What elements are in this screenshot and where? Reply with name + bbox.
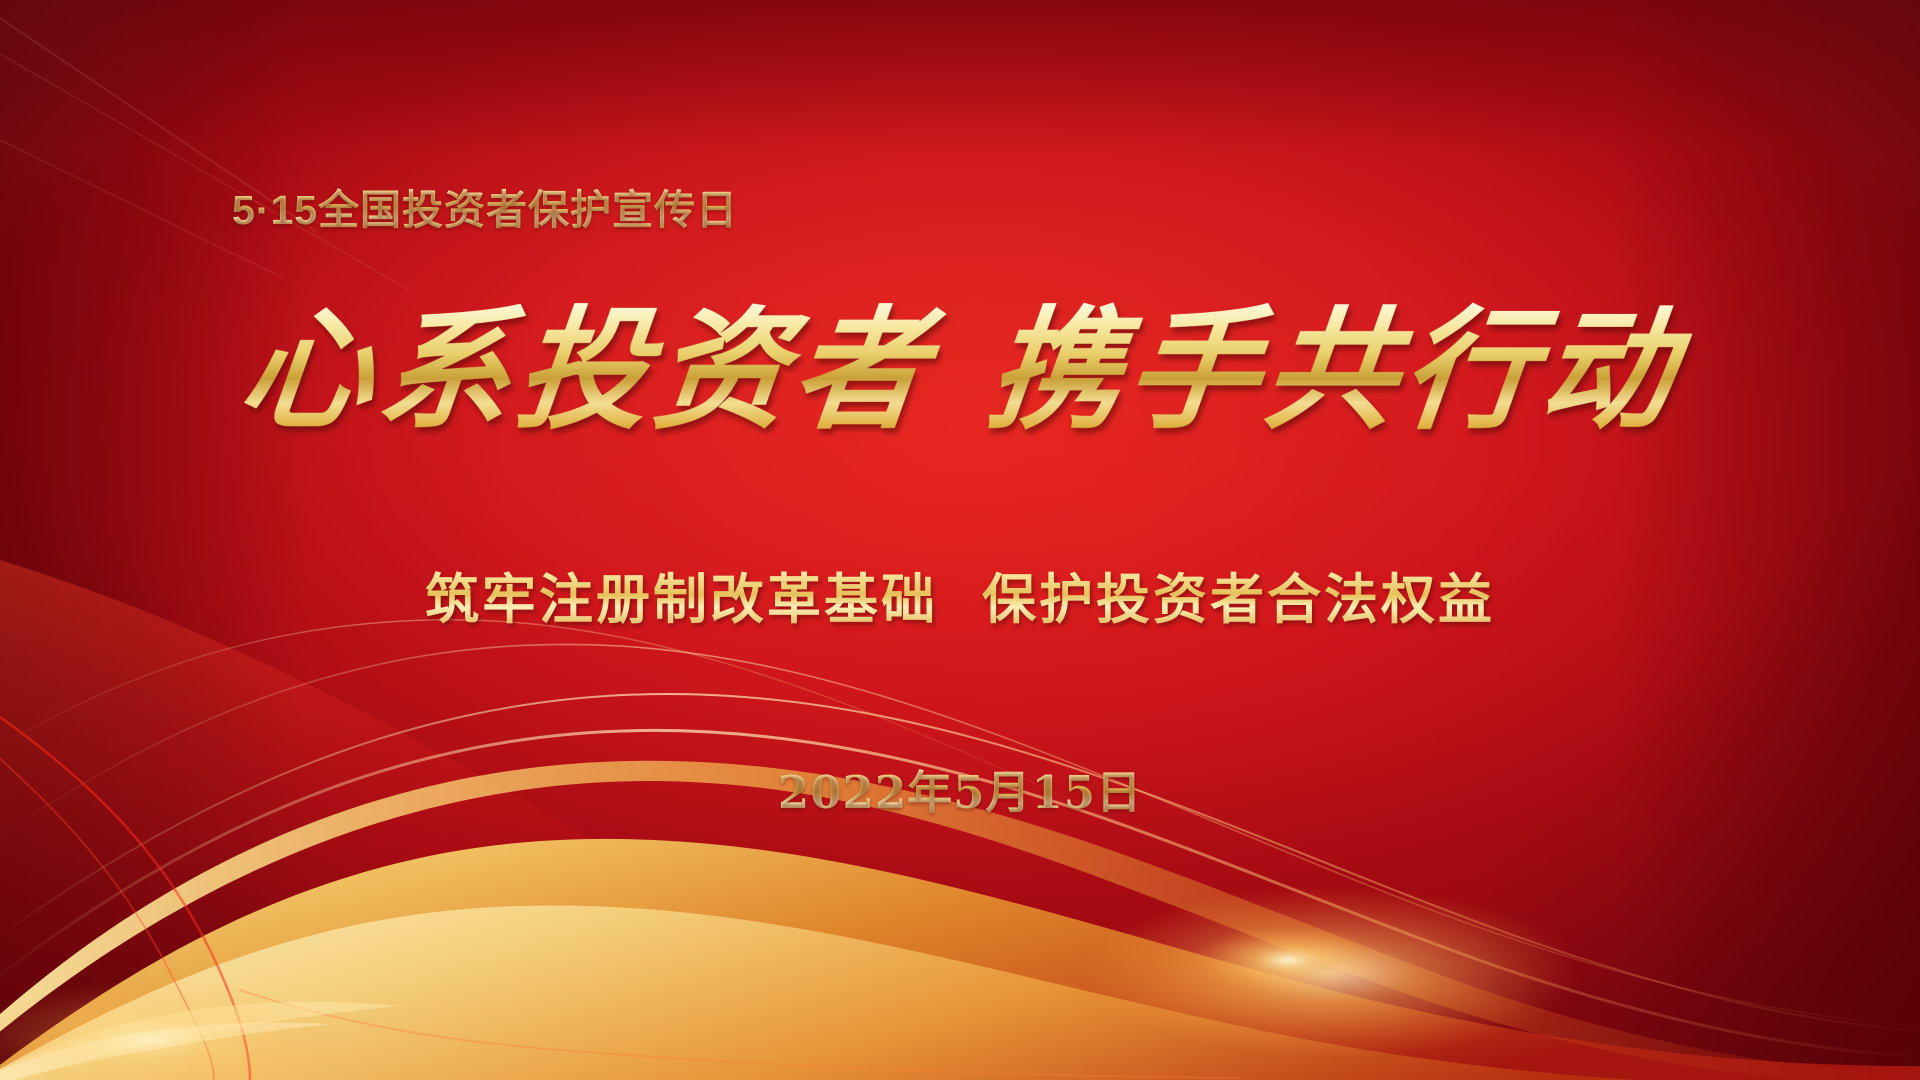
subtitle-part-1: 筑牢注册制改革基础 [425,570,938,630]
headline-part-2: 携手共行动 [981,293,1687,448]
investor-protection-poster: 5·15全国投资者保护宣传日 心系投资者携手共行动 筑牢注册制改革基础保护投资者… [0,0,1920,1080]
headline-part-1: 心系投资者 [233,293,939,448]
event-date: 2022年5月15日 [0,756,1920,821]
campaign-day-label: 5·15全国投资者保护宣传日 [232,176,738,236]
subtitle: 筑牢注册制改革基础保护投资者合法权益 [0,555,1920,634]
headline: 心系投资者携手共行动 [0,300,1920,443]
subtitle-part-2: 保护投资者合法权益 [982,570,1495,630]
poster-content: 5·15全国投资者保护宣传日 心系投资者携手共行动 筑牢注册制改革基础保护投资者… [0,0,1920,1080]
